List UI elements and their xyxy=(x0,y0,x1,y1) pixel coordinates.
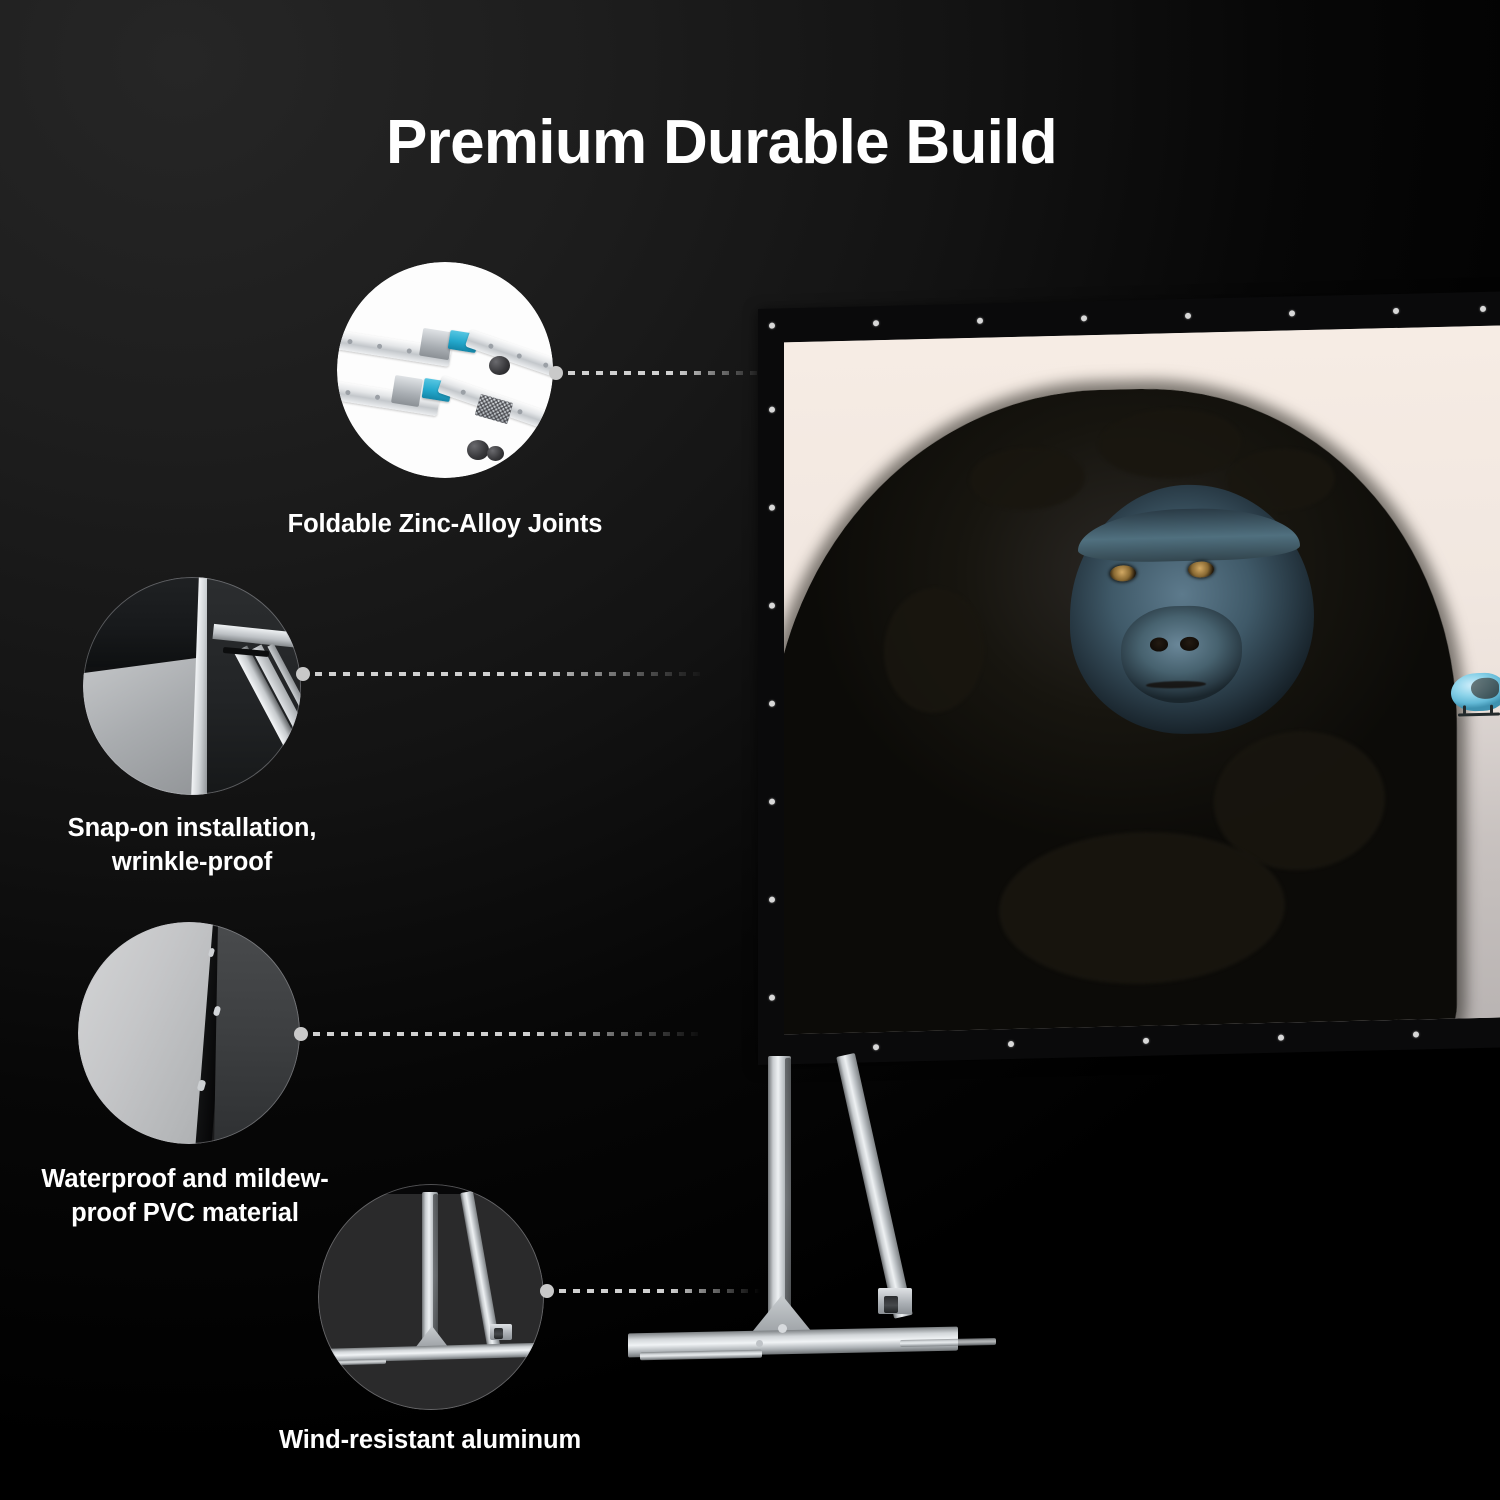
helicopter xyxy=(1446,661,1500,725)
screen-grommet xyxy=(1413,1031,1419,1037)
page-title: Premium Durable Build xyxy=(386,108,1286,177)
stand-foot-extension xyxy=(640,1350,762,1361)
callout-image-snap-on xyxy=(83,577,301,795)
callout-label-wind-resistant: Wind-resistant aluminum xyxy=(204,1424,656,1458)
screen-grommet xyxy=(769,323,775,329)
screen-grommet xyxy=(769,995,775,1001)
connector-pvc-material xyxy=(294,1027,706,1041)
projection-surface xyxy=(784,326,1500,1035)
screen-grommet xyxy=(1289,310,1295,316)
connector-dot xyxy=(296,667,310,681)
stand-brace-joint-dark xyxy=(494,1328,503,1339)
callout-label-foldable-joints: Foldable Zinc-Alloy Joints xyxy=(195,508,695,542)
stand-leg-rib xyxy=(433,1194,438,1342)
connector-wind-resistant xyxy=(540,1284,760,1298)
callout-image-foldable-joints xyxy=(337,262,553,478)
screen-grommet xyxy=(1393,308,1399,314)
screen-grommet xyxy=(769,505,775,511)
stand-hub-bolt xyxy=(756,1340,763,1347)
connector-dashed-line xyxy=(568,371,764,375)
connector-dot xyxy=(294,1027,308,1041)
pvc-back-surface xyxy=(214,922,300,1144)
stand-foot-extension xyxy=(318,1359,386,1366)
connector-foldable-joints xyxy=(549,366,764,380)
infographic-page: Premium Durable Build xyxy=(0,0,1500,1500)
screen-grommet xyxy=(1278,1035,1284,1041)
callout-label-pvc-material: Waterproof and mildew- proof PVC materia… xyxy=(0,1163,385,1230)
rubber-knob xyxy=(467,440,489,460)
screen-grommet xyxy=(1480,306,1486,312)
screen-grommet xyxy=(1185,313,1191,319)
rubber-knob xyxy=(487,446,504,461)
callout-image-pvc-material xyxy=(78,922,300,1144)
screen-grommet xyxy=(769,701,775,707)
screen-grommet xyxy=(769,799,775,805)
connector-dashed-line xyxy=(315,672,706,676)
helicopter-canopy xyxy=(1471,677,1499,699)
stand-diagonal-brace xyxy=(836,1053,913,1319)
alloy-bar xyxy=(465,329,553,381)
helicopter-skid-strut xyxy=(1463,706,1466,715)
rubber-knob xyxy=(489,356,510,375)
helicopter-skid-strut xyxy=(1490,705,1493,714)
connector-dot xyxy=(549,366,563,380)
stand-foot-extension-right xyxy=(900,1338,996,1347)
connector-snap-on xyxy=(296,667,706,681)
callout-image-wind-resistant xyxy=(318,1184,544,1410)
gorilla-nostril-right xyxy=(1180,636,1199,650)
screen-grommet xyxy=(769,407,775,413)
screen-grommet xyxy=(873,320,879,326)
screen-grommet xyxy=(1143,1038,1149,1044)
screen-grommet xyxy=(769,897,775,903)
connector-dashed-line xyxy=(559,1289,760,1293)
stand-post-rib xyxy=(785,1058,791,1316)
stand-hub-bolt xyxy=(778,1324,787,1333)
callout-label-snap-on: Snap-on installation, wrinkle-proof xyxy=(0,812,392,879)
screen-grommet xyxy=(977,318,983,324)
connector-dashed-line xyxy=(313,1032,706,1036)
screen-grommet xyxy=(769,603,775,609)
screen-grommet xyxy=(1081,315,1087,321)
alloy-clamp xyxy=(391,375,423,407)
projector-screen xyxy=(758,292,1500,1065)
screen-grommet xyxy=(873,1044,879,1050)
connector-dot xyxy=(540,1284,554,1298)
screen-grommet xyxy=(1008,1041,1014,1047)
stand-brace-joint-dark xyxy=(884,1296,898,1313)
